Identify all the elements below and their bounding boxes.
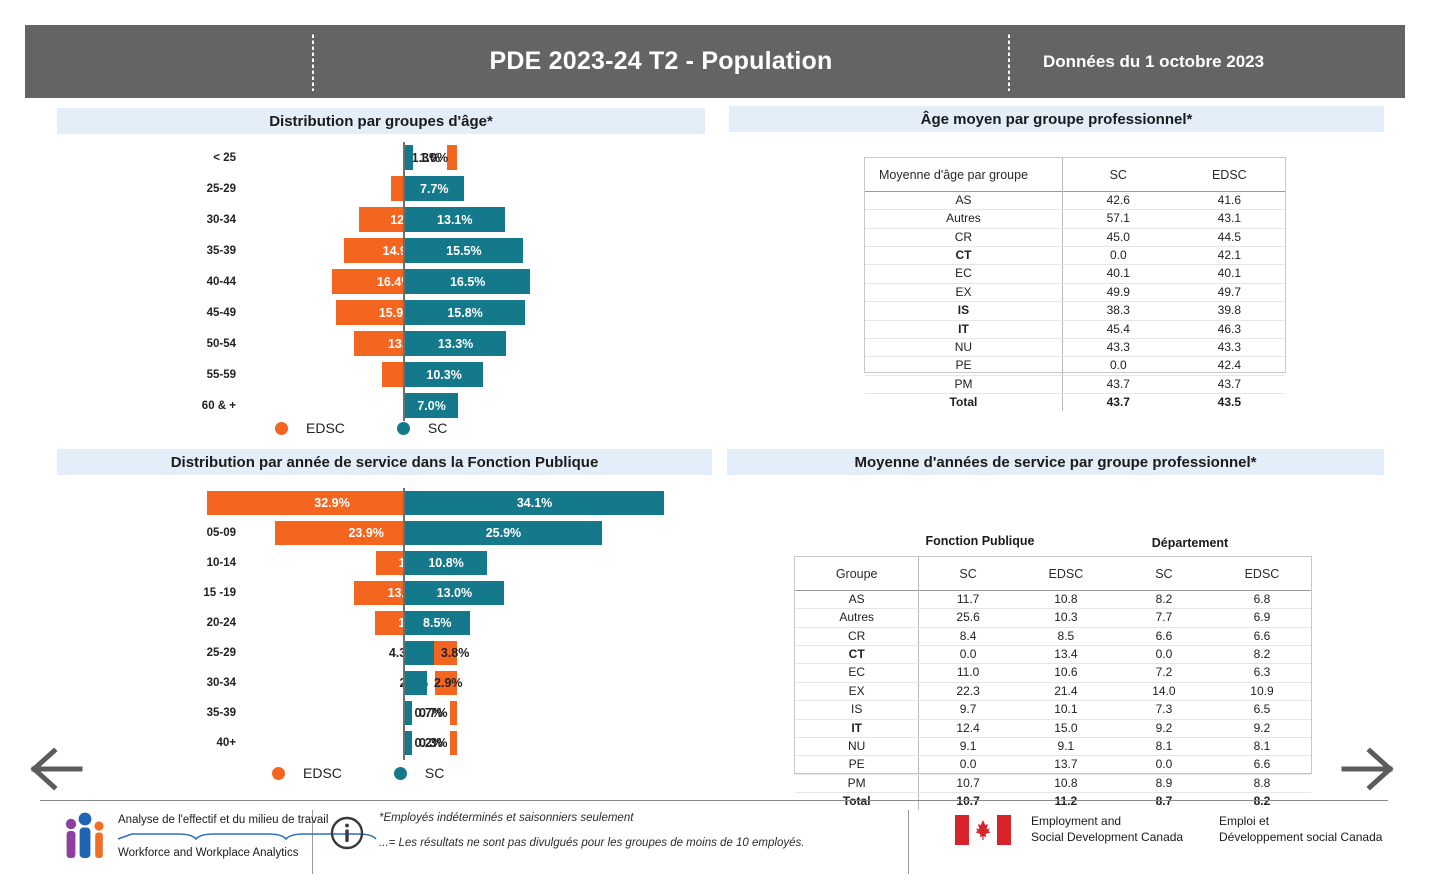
table-body: AS11.710.88.26.8Autres25.610.37.76.9CR8.…	[795, 591, 1311, 811]
table-cell-value: 9.2	[1213, 719, 1311, 737]
pyramid-category-label: 20-24	[150, 617, 242, 629]
legend-dot-edsc-icon	[275, 422, 288, 435]
footnote-lines: *Employés indéterminés et saisonniers se…	[379, 810, 804, 853]
table-cell-value: 7.7	[1115, 609, 1213, 627]
legend-service-chart: EDSC SC	[272, 765, 444, 781]
footnote-asterisk: *Employés indéterminés et saisonniers se…	[379, 810, 804, 828]
pyramid-half-sc: 16.5%	[405, 269, 530, 294]
table-cell-group: Autres	[865, 210, 1062, 228]
pyramid-bar-value: 15.8%	[447, 306, 482, 320]
table-cell-value: 49.7	[1174, 283, 1285, 301]
pyramid-category-label: 40+	[150, 737, 242, 749]
table-cell-value: 6.9	[1213, 609, 1311, 627]
pyramid-half-sc: 8.5%	[405, 611, 470, 635]
chart-service-pyramid: < 0532.9%34.1%05-0923.9%25.9%10-1410.7%1…	[150, 488, 710, 768]
table-cell-value: 43.5	[1174, 393, 1285, 411]
table-row: PE0.013.70.06.6	[795, 756, 1311, 774]
table-header-row: GroupeSCEDSCSCEDSC	[795, 557, 1311, 591]
pyramid-bar-sc[interactable]	[405, 671, 427, 695]
table-cell-group: CR	[795, 627, 919, 645]
pyramid-category-label: 55-59	[150, 369, 242, 381]
panel-title-average-age: Âge moyen par groupe professionnel*	[729, 106, 1384, 132]
legend-dot-sc-icon	[397, 422, 410, 435]
pyramid-category-label: 10-14	[150, 557, 242, 569]
esdc-en-line2: Social Development Canada	[1031, 830, 1205, 846]
table-body: AS42.641.6Autres57.143.1CR45.044.5CT0.04…	[865, 192, 1285, 412]
table-cell-value: 0.0	[919, 646, 1017, 664]
pyramid-bar-value: 10.3%	[426, 368, 461, 382]
previous-slide-arrow-icon[interactable]	[28, 742, 86, 796]
table-cell-value: 22.3	[919, 682, 1017, 700]
table-row: EC40.140.1	[865, 265, 1285, 283]
pyramid-row: 35-390.7%0.7%	[150, 698, 710, 728]
pyramid-category-label: 30-34	[150, 214, 242, 226]
table-cell-value: 0.0	[919, 756, 1017, 774]
table-cell-value: 57.1	[1062, 210, 1173, 228]
table-column-header: EDSC	[1213, 557, 1311, 591]
footnotes-block: *Employés indéterminés et saisonniers se…	[330, 810, 804, 853]
pyramid-bar-sc[interactable]: 13.3%	[405, 331, 506, 356]
pyramid-half-sc: 34.1%	[405, 491, 664, 515]
pyramid-row: 30-3412.9%13.1%	[150, 204, 710, 235]
esdc-label-columns: Employment and Social Development Canada…	[1011, 814, 1382, 846]
pyramid-half-sc: 15.8%	[405, 300, 525, 325]
table-row: CR45.044.5	[865, 228, 1285, 246]
pyramid-half-sc: 13.3%	[405, 331, 506, 356]
pyramid-half-sc: 1.0%	[405, 145, 448, 170]
pyramid-category-label: 40-44	[150, 276, 242, 288]
pyramid-half-sc: 0.7%	[405, 701, 448, 725]
legend-label-sc: SC	[425, 765, 444, 781]
pyramid-row: 20-2410.8%8.5%	[150, 608, 710, 638]
esdc-branding-block: Employment and Social Development Canada…	[955, 814, 1382, 846]
pyramid-bar-value: 34.1%	[517, 496, 552, 510]
pyramid-category-label: 45-49	[150, 307, 242, 319]
footer-vertical-divider-2	[908, 810, 909, 874]
table-cell-value: 42.6	[1062, 192, 1173, 210]
info-circle-icon	[330, 816, 364, 850]
table-cell-value: 0.0	[1115, 756, 1213, 774]
table-cell-group: Total	[865, 393, 1062, 411]
table-cell-value: 8.1	[1213, 737, 1311, 755]
table-cell-value: 15.0	[1017, 719, 1115, 737]
pyramid-bar-sc[interactable]	[405, 145, 413, 170]
panel-title-average-service: Moyenne d'années de service par groupe p…	[727, 449, 1384, 475]
pyramid-bar-value: 16.5%	[450, 275, 485, 289]
table-cell-value: 7.3	[1115, 701, 1213, 719]
table-cell-value: 8.4	[919, 627, 1017, 645]
arrow-right-icon	[1338, 742, 1396, 796]
pyramid-bar-sc[interactable]: 13.1%	[405, 207, 505, 232]
table-cell-value: 25.6	[919, 609, 1017, 627]
table-cell-value: 6.5	[1213, 701, 1311, 719]
pyramid-category-label: 60 & +	[150, 400, 242, 412]
table-cell-value: 6.6	[1115, 627, 1213, 645]
table-cell-value: 40.1	[1062, 265, 1173, 283]
table-row: PM10.710.88.98.8	[795, 774, 1311, 792]
table-cell-value: 44.5	[1174, 228, 1285, 246]
table-cell-value: 12.4	[919, 719, 1017, 737]
pyramid-bar-value: 13.3%	[438, 337, 473, 351]
table-row: AS11.710.88.26.8	[795, 591, 1311, 609]
table-cell-value: 9.2	[1115, 719, 1213, 737]
table-cell-group: IT	[865, 320, 1062, 338]
table-head: Moyenne d'âge par groupeSCEDSC	[865, 158, 1285, 192]
table-column-header: EDSC	[1174, 158, 1285, 192]
table-column-header: Moyenne d'âge par groupe	[865, 158, 1062, 192]
table-cell-value: 8.8	[1213, 774, 1311, 792]
table-cell-group: NU	[865, 338, 1062, 356]
table-row: Autres25.610.37.76.9	[795, 609, 1311, 627]
pyramid-row: < 251.3%1.0%	[150, 142, 710, 173]
table-row: PE0.042.4	[865, 357, 1285, 375]
table-cell-value: 14.0	[1115, 682, 1213, 700]
table-cell-value: 43.7	[1174, 375, 1285, 393]
table-row: CT0.042.1	[865, 247, 1285, 265]
pyramid-bar-sc[interactable]: 7.0%	[405, 393, 458, 418]
table-row: Total43.743.5	[865, 393, 1285, 411]
table-average-age-by-group: Moyenne d'âge par groupeSCEDSC AS42.641.…	[864, 157, 1286, 373]
table-cell-group: EC	[795, 664, 919, 682]
table-row: Autres57.143.1	[865, 210, 1285, 228]
pyramid-bar-sc[interactable]: 10.3%	[405, 362, 483, 387]
pyramid-half-sc: 15.5%	[405, 238, 523, 263]
arrow-left-icon	[28, 742, 86, 796]
pyramid-category-label: 35-39	[150, 245, 242, 257]
group-header-departement: Département	[1090, 536, 1290, 550]
table-column-header: Groupe	[795, 557, 919, 591]
table-cell-value: 0.0	[1115, 646, 1213, 664]
table-cell-value: 6.6	[1213, 756, 1311, 774]
average-age-table: Moyenne d'âge par groupeSCEDSC AS42.641.…	[865, 158, 1285, 411]
table-cell-group: CT	[795, 646, 919, 664]
legend-label-sc: SC	[428, 420, 447, 436]
table-cell-value: 43.3	[1174, 338, 1285, 356]
pyramid-row: 05-0923.9%25.9%	[150, 518, 710, 548]
footer-divider-line	[40, 800, 1388, 801]
table-row: IT12.415.09.29.2	[795, 719, 1311, 737]
pyramid-row: 60 & +6.5%7.0%	[150, 390, 710, 421]
pyramid-bar-sc[interactable]: 15.8%	[405, 300, 525, 325]
pyramid-bar-sc[interactable]: 34.1%	[405, 491, 664, 515]
pyramid-bar-value: 23.9%	[348, 526, 383, 540]
table-cell-value: 45.0	[1062, 228, 1173, 246]
pyramid-bar-value: 13.0%	[437, 586, 472, 600]
pyramid-bar-sc[interactable]: 13.0%	[405, 581, 504, 605]
table-cell-value: 11.7	[919, 591, 1017, 609]
table-cell-group: IS	[865, 302, 1062, 320]
slide-header: PDE 2023-24 T2 - Population Données du 1…	[25, 25, 1405, 98]
table-cell-value: 42.1	[1174, 247, 1285, 265]
pyramid-bar-value: 7.0%	[417, 399, 446, 413]
pyramid-bar-edsc[interactable]	[450, 731, 457, 755]
pyramid-bar-value: 0.3%	[419, 736, 448, 750]
pyramid-bar-value: 8.5%	[423, 616, 452, 630]
table-cell-group: PM	[865, 375, 1062, 393]
legend-label-edsc: EDSC	[306, 420, 345, 436]
pyramid-row: 40+0.2%0.3%	[150, 728, 710, 758]
table-row: NU43.343.3	[865, 338, 1285, 356]
table-row: IS38.339.8	[865, 302, 1285, 320]
panel-title-service-distribution: Distribution par année de service dans l…	[57, 449, 712, 475]
table-cell-value: 43.3	[1062, 338, 1173, 356]
table-cell-group: AS	[795, 591, 919, 609]
next-slide-arrow-icon[interactable]	[1338, 742, 1396, 796]
table-row: EX22.321.414.010.9	[795, 682, 1311, 700]
pyramid-half-sc: 7.7%	[405, 176, 464, 201]
pyramid-bar-value: 10.8%	[428, 556, 463, 570]
pyramid-category-label: 25-29	[150, 183, 242, 195]
table-cell-value: 43.1	[1174, 210, 1285, 228]
table-cell-value: 9.7	[919, 701, 1017, 719]
table-column-header: EDSC	[1017, 557, 1115, 591]
table-cell-group: IT	[795, 719, 919, 737]
pyramid-bar-value: 32.9%	[314, 496, 349, 510]
chart-age-pyramid: < 251.3%1.0%25-298.7%7.7%30-3412.9%13.1%…	[150, 142, 710, 422]
average-service-table: GroupeSCEDSCSCEDSC AS11.710.88.26.8Autre…	[795, 557, 1311, 810]
table-cell-value: 8.1	[1115, 737, 1213, 755]
table-row: CR8.48.56.66.6	[795, 627, 1311, 645]
panel-title-age-distribution: Distribution par groupes d'âge*	[57, 108, 705, 134]
page-title: PDE 2023-24 T2 - Population	[490, 47, 833, 76]
table-cell-value: 10.9	[1213, 682, 1311, 700]
legend-label-edsc: EDSC	[303, 765, 342, 781]
table-cell-value: 13.4	[1017, 646, 1115, 664]
pyramid-category-label: 25-29	[150, 647, 242, 659]
pyramid-row: 40-4416.4%16.5%	[150, 266, 710, 297]
table-cell-value: 8.5	[1017, 627, 1115, 645]
table-cell-value: 10.8	[1017, 591, 1115, 609]
table-cell-value: 0.0	[1062, 247, 1173, 265]
pyramid-bar-edsc[interactable]	[450, 701, 457, 725]
slide-footer: Analyse de l'effectif et du milieu de tr…	[40, 806, 1388, 886]
esdc-fr-line1: Emploi et	[1219, 814, 1382, 830]
legend-dot-edsc-icon	[272, 767, 285, 780]
table-cell-value: 41.6	[1174, 192, 1285, 210]
pyramid-bar-sc[interactable]: 25.9%	[405, 521, 602, 545]
pyramid-center-axis	[403, 142, 405, 421]
table-cell-value: 49.9	[1062, 283, 1173, 301]
table-cell-group: IS	[795, 701, 919, 719]
table-cell-group: CR	[865, 228, 1062, 246]
table-cell-value: 10.6	[1017, 664, 1115, 682]
table-cell-group: AS	[865, 192, 1062, 210]
table-cell-group: PE	[795, 756, 919, 774]
table-cell-value: 46.3	[1174, 320, 1285, 338]
pyramid-half-sc: 7.0%	[405, 393, 458, 418]
pyramid-bar-value: 25.9%	[486, 526, 521, 540]
pyramid-half-sc: 13.1%	[405, 207, 505, 232]
pyramid-bar-value: 15.5%	[446, 244, 481, 258]
table-cell-value: 21.4	[1017, 682, 1115, 700]
table-cell-value: 9.1	[919, 737, 1017, 755]
pyramid-half-sc: 13.0%	[405, 581, 504, 605]
pyramid-category-label: 50-54	[150, 338, 242, 350]
table-cell-value: 10.1	[1017, 701, 1115, 719]
pyramid-category-label: 30-34	[150, 677, 242, 689]
pyramid-row: 10-1410.7%10.8%	[150, 548, 710, 578]
table-header-row: Moyenne d'âge par groupeSCEDSC	[865, 158, 1285, 192]
pyramid-bar-value: 2.9%	[434, 676, 463, 690]
table-row: PM43.743.7	[865, 375, 1285, 393]
table-cell-value: 38.3	[1062, 302, 1173, 320]
pyramid-category-label: 05-09	[150, 527, 242, 539]
footnote-suppression: ...= Les résultats ne sont pas divulgués…	[379, 828, 804, 853]
pyramid-half-sc: 10.3%	[405, 362, 483, 387]
pyramid-category-label: < 25	[150, 152, 242, 164]
table-row: AS42.641.6	[865, 192, 1285, 210]
table-head: GroupeSCEDSCSCEDSC	[795, 557, 1311, 591]
table-cell-group: NU	[795, 737, 919, 755]
header-date: Données du 1 octobre 2023	[1043, 52, 1264, 72]
table-cell-group: CT	[865, 247, 1062, 265]
pyramid-bar-value: 13.1%	[437, 213, 472, 227]
pyramid-bar-sc[interactable]	[405, 701, 412, 725]
legend-dot-sc-icon	[394, 767, 407, 780]
pyramid-row: < 0532.9%34.1%	[150, 488, 710, 518]
table-cell-value: 8.9	[1115, 774, 1213, 792]
table-cell-value: 45.4	[1062, 320, 1173, 338]
table-cell-value: 10.7	[919, 774, 1017, 792]
table-row: IT45.446.3	[865, 320, 1285, 338]
table-cell-value: 6.8	[1213, 591, 1311, 609]
table-average-service-by-group: GroupeSCEDSCSCEDSC AS11.710.88.26.8Autre…	[794, 556, 1312, 774]
table-cell-group: EC	[865, 265, 1062, 283]
pyramid-bar-sc[interactable]	[405, 731, 412, 755]
table-cell-value: 42.4	[1174, 357, 1285, 375]
table-cell-value: 10.8	[1017, 774, 1115, 792]
table-cell-value: 6.6	[1213, 627, 1311, 645]
esdc-fr-line2: Développement social Canada	[1219, 830, 1382, 846]
group-header-fonction-publique: Fonction Publique	[880, 534, 1080, 548]
canada-flag-icon	[955, 815, 1011, 845]
pyramid-bar-edsc[interactable]	[447, 145, 457, 170]
table-row: EC11.010.67.26.3	[795, 664, 1311, 682]
table-cell-group: Autres	[795, 609, 919, 627]
header-date-container: Données du 1 octobre 2023	[1010, 25, 1405, 98]
legend-age-chart: EDSC SC	[275, 420, 447, 436]
table-row: IS9.710.17.36.5	[795, 701, 1311, 719]
table-column-header: SC	[1062, 158, 1173, 192]
table-cell-value: 11.0	[919, 664, 1017, 682]
table-cell-value: 10.3	[1017, 609, 1115, 627]
table-cell-group: EX	[795, 682, 919, 700]
pyramid-category-label: 15 -19	[150, 587, 242, 599]
pyramid-row: 50-5413.5%13.3%	[150, 328, 710, 359]
header-left-spacer	[25, 25, 312, 98]
table-cell-value: 43.7	[1062, 393, 1173, 411]
pyramid-bar-sc[interactable]: 8.5%	[405, 611, 470, 635]
table-cell-group: EX	[865, 283, 1062, 301]
pyramid-row: 30-342.9%2.9%	[150, 668, 710, 698]
esdc-label-english: Employment and Social Development Canada	[1031, 814, 1205, 846]
table-cell-value: 8.2	[1213, 646, 1311, 664]
pyramid-row: 25-294.3%3.8%	[150, 638, 710, 668]
table-cell-value: 39.8	[1174, 302, 1285, 320]
pyramid-row: 55-599.9%10.3%	[150, 359, 710, 390]
pyramid-center-axis	[403, 488, 405, 760]
pyramid-bar-sc[interactable]	[405, 641, 434, 665]
pyramid-bar-sc[interactable]: 7.7%	[405, 176, 464, 201]
table-row: CT0.013.40.08.2	[795, 646, 1311, 664]
pyramid-bar-sc[interactable]: 16.5%	[405, 269, 530, 294]
table-cell-value: 0.0	[1062, 357, 1173, 375]
pyramid-bar-value: 3.8%	[441, 646, 470, 660]
pyramid-bar-value: 1.0%	[420, 151, 449, 165]
table-cell-value: 13.7	[1017, 756, 1115, 774]
pyramid-row: 45-4915.9%15.8%	[150, 297, 710, 328]
pyramid-row: 15 -1913.6%13.0%	[150, 578, 710, 608]
table-row: EX49.949.7	[865, 283, 1285, 301]
table-cell-value: 8.2	[1115, 591, 1213, 609]
esdc-label-french: Emploi et Développement social Canada	[1219, 814, 1382, 846]
table-cell-value: 40.1	[1174, 265, 1285, 283]
table-column-header: SC	[1115, 557, 1213, 591]
pyramid-half-sc: 10.8%	[405, 551, 487, 575]
pyramid-category-label: 35-39	[150, 707, 242, 719]
pyramid-bar-sc[interactable]: 15.5%	[405, 238, 523, 263]
table-cell-value: 9.1	[1017, 737, 1115, 755]
pyramid-bar-value: 7.7%	[420, 182, 449, 196]
table-row: NU9.19.18.18.1	[795, 737, 1311, 755]
esdc-en-line1: Employment and	[1031, 814, 1205, 830]
header-title-container: PDE 2023-24 T2 - Population	[314, 25, 1008, 98]
table-cell-value: 6.3	[1213, 664, 1311, 682]
pyramid-bar-value: 0.7%	[419, 706, 448, 720]
table-cell-value: 7.2	[1115, 664, 1213, 682]
pyramid-half-sc: 0.3%	[405, 731, 448, 755]
pyramid-row: 25-298.7%7.7%	[150, 173, 710, 204]
pyramid-row: 35-3914.9%15.5%	[150, 235, 710, 266]
pyramid-half-sc: 3.8%	[405, 641, 469, 665]
table-column-header: SC	[919, 557, 1017, 591]
table-cell-group: PM	[795, 774, 919, 792]
slide-page: PDE 2023-24 T2 - Population Données du 1…	[0, 0, 1430, 892]
table-cell-group: PE	[865, 357, 1062, 375]
pyramid-half-sc: 25.9%	[405, 521, 602, 545]
pyramid-half-sc: 2.9%	[405, 671, 463, 695]
table-cell-value: 43.7	[1062, 375, 1173, 393]
pyramid-bar-sc[interactable]: 10.8%	[405, 551, 487, 575]
people-figures-icon	[62, 812, 110, 862]
